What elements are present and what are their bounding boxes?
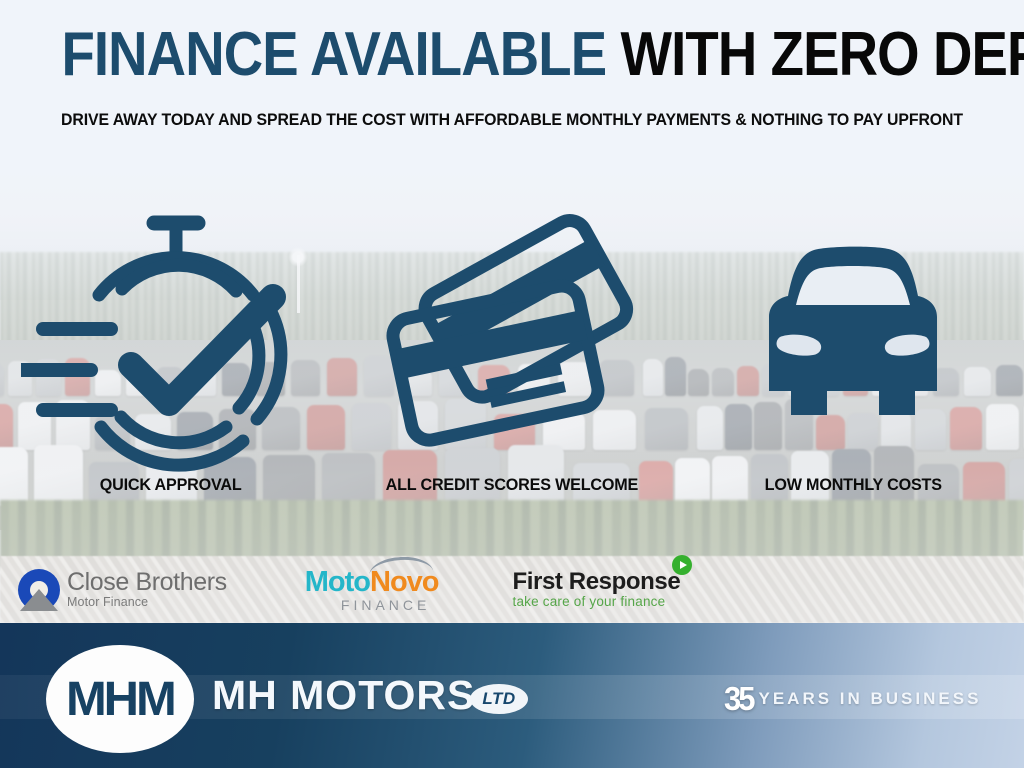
close-brothers-tagline: Motor Finance (67, 595, 227, 609)
motonovo-logo-icon: MotoNovo FINANCE (305, 567, 439, 613)
headline: FINANCE AVAILABLE WITH ZERO DEPOSIT (61, 24, 962, 86)
mhm-monogram-logo: MHM (46, 645, 194, 753)
credit-cards-icon (377, 205, 647, 475)
feature-all-credit-scores: ALL CREDIT SCORES WELCOME (341, 205, 682, 495)
brand-name: MH MOTORS (212, 672, 475, 719)
feature-quick-approval: QUICK APPROVAL (0, 205, 341, 495)
headline-black-text: WITH ZERO DEPOSIT (620, 20, 1024, 89)
years-label: YEARS IN BUSINESS (758, 689, 981, 709)
close-brothers-mark-icon (18, 569, 60, 611)
ltd-badge-text: LTD (482, 689, 515, 709)
close-brothers-name: Close Brothers (67, 570, 227, 595)
mhm-monogram-text: MHM (66, 672, 174, 727)
years-in-business: 35 YEARS IN BUSINESS (724, 683, 981, 714)
close-brothers-logo-icon: Close Brothers Motor Finance (18, 569, 227, 611)
feature-low-monthly-costs: LOW MONTHLY COSTS (683, 205, 1024, 495)
first-response-name: First Response (513, 569, 681, 594)
motonovo-name-part1: Moto (305, 566, 370, 598)
lender-logo-strip: Close Brothers Motor Finance MotoNovo FI… (0, 556, 1024, 623)
headline-blue-text: FINANCE AVAILABLE (61, 20, 606, 89)
feature-label: QUICK APPROVAL (100, 475, 242, 495)
finance-promo-banner: FINANCE AVAILABLE WITH ZERO DEPOSIT DRIV… (0, 0, 1024, 768)
feature-label: LOW MONTHLY COSTS (765, 475, 942, 495)
motonovo-car-swoosh-icon (368, 555, 433, 578)
stopwatch-checkmark-icon (21, 205, 321, 475)
play-button-icon (672, 555, 692, 575)
first-response-tagline: take care of your finance (513, 594, 681, 610)
ltd-badge: LTD (470, 684, 528, 714)
years-number: 35 (724, 682, 752, 715)
feature-row: QUICK APPROVAL (0, 205, 1024, 525)
first-response-logo-icon: First Response take care of your finance (513, 569, 681, 610)
feature-label: ALL CREDIT SCORES WELCOME (386, 475, 638, 495)
subheadline: DRIVE AWAY TODAY AND SPREAD THE COST WIT… (42, 108, 983, 133)
motonovo-tagline: FINANCE (333, 597, 439, 613)
car-front-icon (733, 205, 973, 475)
